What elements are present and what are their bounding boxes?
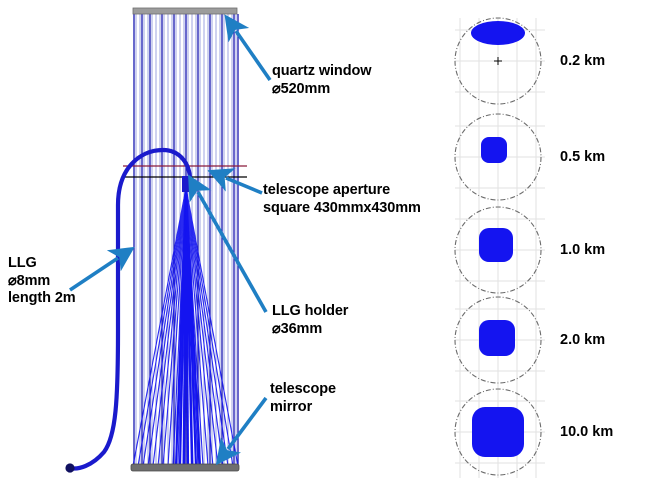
center-cross-icon — [494, 57, 502, 65]
llg-label-line2: ⌀8mm — [8, 273, 50, 289]
telescope-aperture-label-line2: square 430mmx430mm — [263, 200, 421, 216]
quartz-window-label-line2: ⌀520mm — [272, 81, 330, 97]
beam-spot-3 — [479, 320, 515, 356]
telescope-aperture-label-line1: telescope aperture — [263, 182, 390, 198]
distance-label-1: 0.5 km — [560, 149, 605, 165]
quartz-window-label-line1: quartz window — [272, 63, 371, 79]
telescope-aperture-label: telescope aperturesquare 430mmx430mm — [263, 182, 421, 217]
llg-label-line1: LLG — [8, 255, 37, 271]
figure-canvas: quartz window⌀520mm telescope aperturesq… — [0, 0, 654, 491]
llg-holder-label: LLG holder⌀36mm — [272, 303, 348, 338]
llg-holder-label-line2: ⌀36mm — [272, 321, 322, 337]
distance-label-4: 10.0 km — [560, 424, 613, 440]
telescope-mirror-label-line1: telescope — [270, 381, 336, 397]
llg-label-line3: length 2m — [8, 290, 76, 306]
distance-label-3: 2.0 km — [560, 332, 605, 348]
llg-holder-label-line1: LLG holder — [272, 303, 348, 319]
beam-spot-4 — [472, 407, 524, 457]
telescope-mirror-label-line2: mirror — [270, 399, 312, 415]
beam-spot-1 — [481, 137, 507, 163]
quartz-window-label: quartz window⌀520mm — [272, 63, 371, 98]
telescope-mirror-label: telescopemirror — [270, 381, 336, 416]
beam-spot-2 — [479, 228, 513, 262]
distance-label-2: 1.0 km — [560, 242, 605, 258]
beam-spot-0 — [471, 21, 525, 45]
llg-label: LLG⌀8mmlength 2m — [8, 255, 76, 308]
distance-label-0: 0.2 km — [560, 53, 605, 69]
